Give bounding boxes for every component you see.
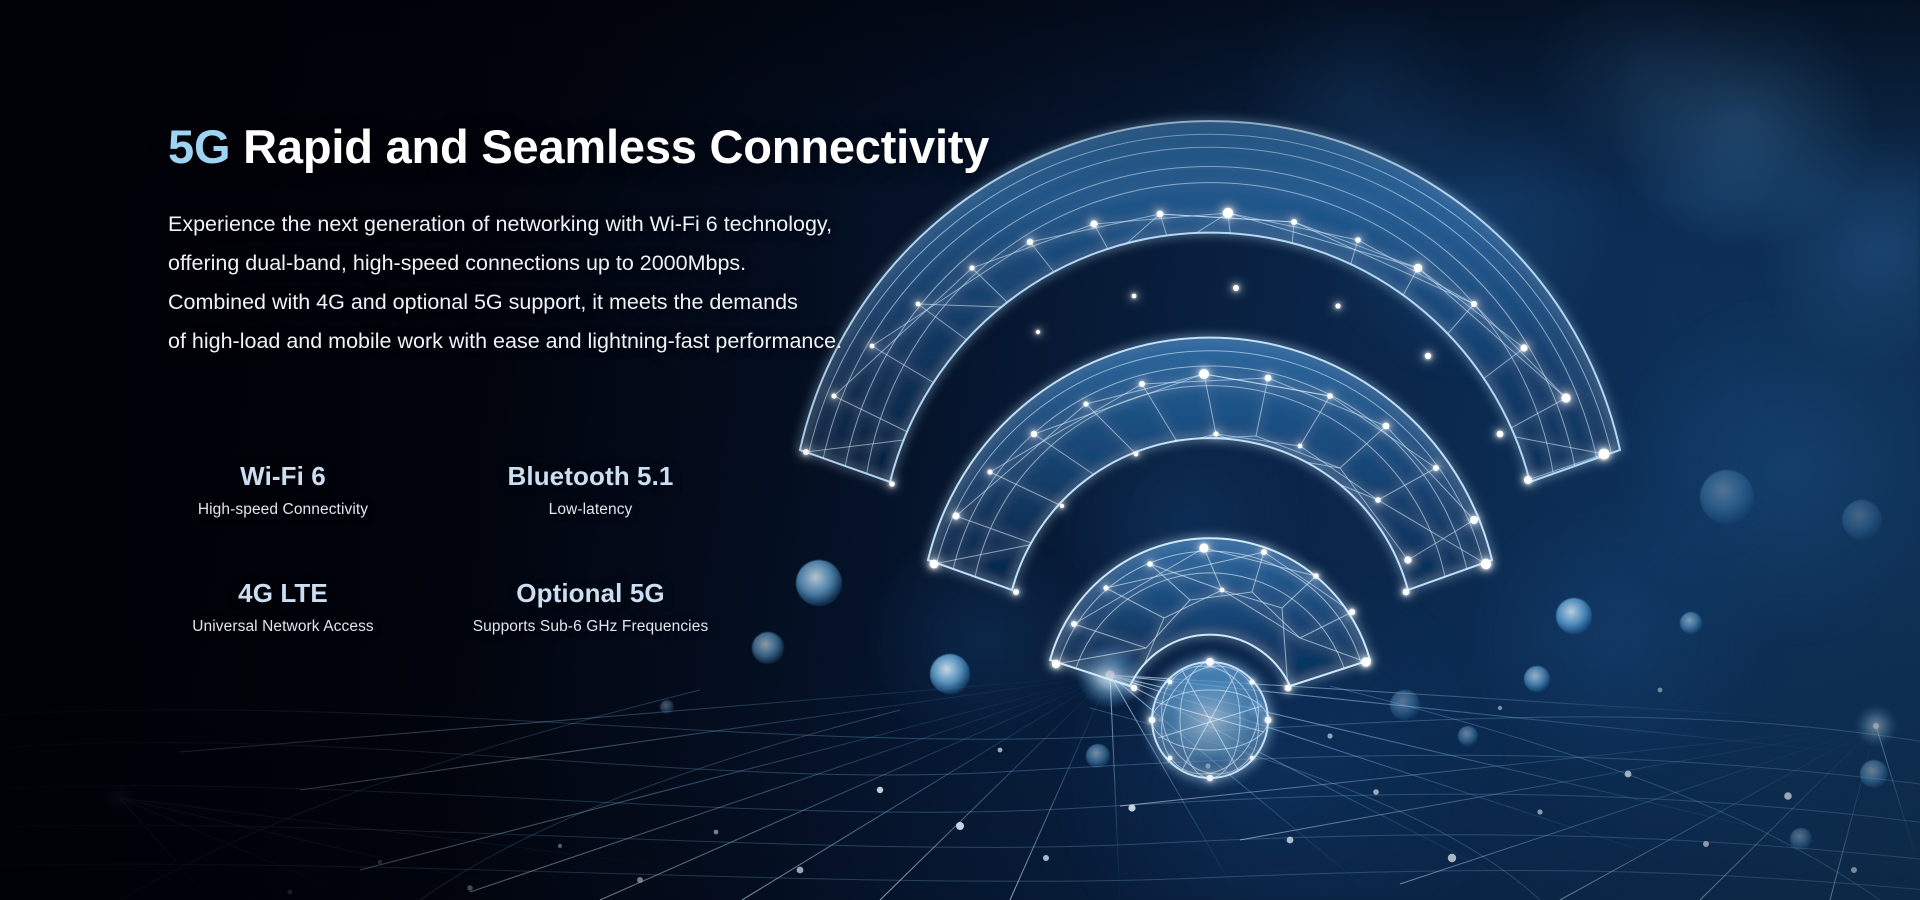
paragraph-line-4: of high-load and mobile work with ease a… — [168, 322, 1068, 361]
feature-bluetooth: Bluetooth 5.1 Low-latency — [448, 462, 733, 519]
feature-row-1: Wi-Fi 6 High-speed Connectivity Bluetoot… — [168, 462, 808, 519]
feature-wifi6: Wi-Fi 6 High-speed Connectivity — [168, 462, 398, 519]
feature-4g-lte: 4G LTE Universal Network Access — [168, 579, 398, 636]
feature-title: 4G LTE — [168, 579, 398, 609]
paragraph-line-2: offering dual-band, high-speed connectio… — [168, 244, 1068, 283]
hero-content: 5G Rapid and Seamless Connectivity Exper… — [168, 122, 1068, 361]
feature-row-2: 4G LTE Universal Network Access Optional… — [168, 579, 808, 636]
hero-banner: 5G Rapid and Seamless Connectivity Exper… — [0, 0, 1920, 900]
feature-subtitle: Universal Network Access — [168, 618, 398, 637]
network-hub-far-left — [104, 782, 700, 900]
headline-accent-5g: 5G — [168, 120, 230, 173]
feature-subtitle: High-speed Connectivity — [168, 501, 398, 520]
feature-grid: Wi-Fi 6 High-speed Connectivity Bluetoot… — [168, 462, 808, 637]
feature-subtitle: Supports Sub-6 GHz Frequencies — [448, 618, 733, 637]
hero-paragraph: Experience the next generation of networ… — [168, 173, 1068, 362]
feature-subtitle: Low-latency — [448, 501, 733, 520]
paragraph-line-3: Combined with 4G and optional 5G support… — [168, 283, 1068, 322]
paragraph-line-1: Experience the next generation of networ… — [168, 205, 1068, 244]
feature-optional-5g: Optional 5G Supports Sub-6 GHz Frequenci… — [448, 579, 733, 636]
page-title: 5G Rapid and Seamless Connectivity — [168, 122, 1068, 173]
wifi-center-node — [1138, 648, 1282, 792]
feature-title: Wi-Fi 6 — [168, 462, 398, 492]
feature-title: Optional 5G — [448, 579, 733, 609]
feature-title: Bluetooth 5.1 — [448, 462, 733, 492]
headline-rest: Rapid and Seamless Connectivity — [230, 120, 989, 173]
